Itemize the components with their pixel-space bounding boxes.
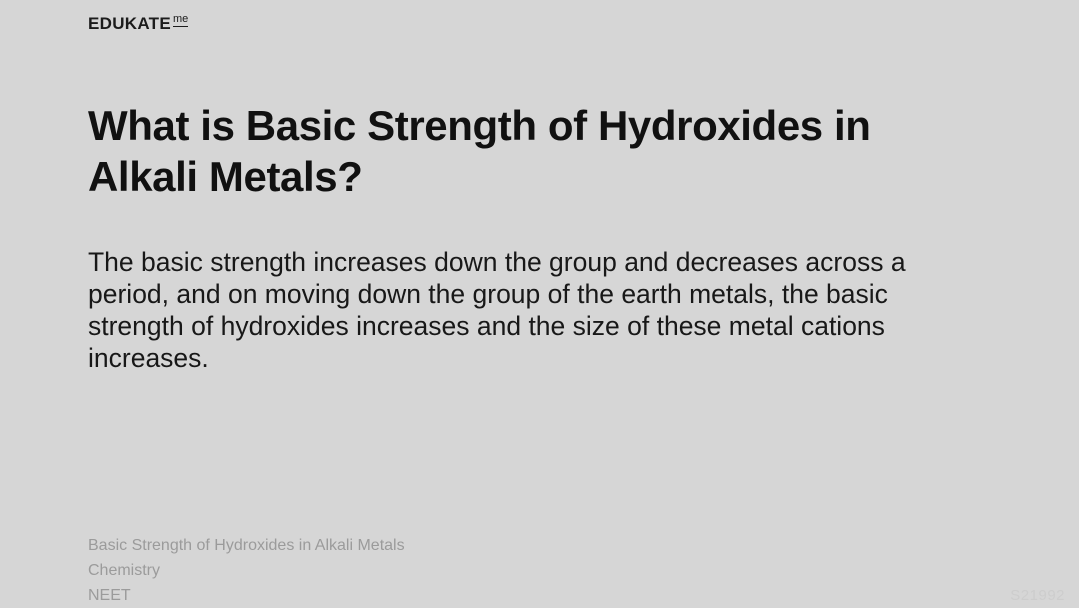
slide-body-text: The basic strength increases down the gr… [88,246,978,374]
footer-metadata: Basic Strength of Hydroxides in Alkali M… [88,533,405,608]
slide-title: What is Basic Strength of Hydroxides in … [88,100,988,202]
footer-subject: Chemistry [88,558,405,583]
footer-topic: Basic Strength of Hydroxides in Alkali M… [88,533,405,558]
edukate-logo[interactable]: EDUKATE me [88,15,188,32]
slide-canvas: EDUKATE me What is Basic Strength of Hyd… [0,0,1079,607]
brand-superscript-me: me [173,14,188,27]
brand-name-text: EDUKATE [88,15,171,32]
footer-exam: NEET [88,583,405,608]
slide-id-watermark: S21992 [1010,587,1065,604]
